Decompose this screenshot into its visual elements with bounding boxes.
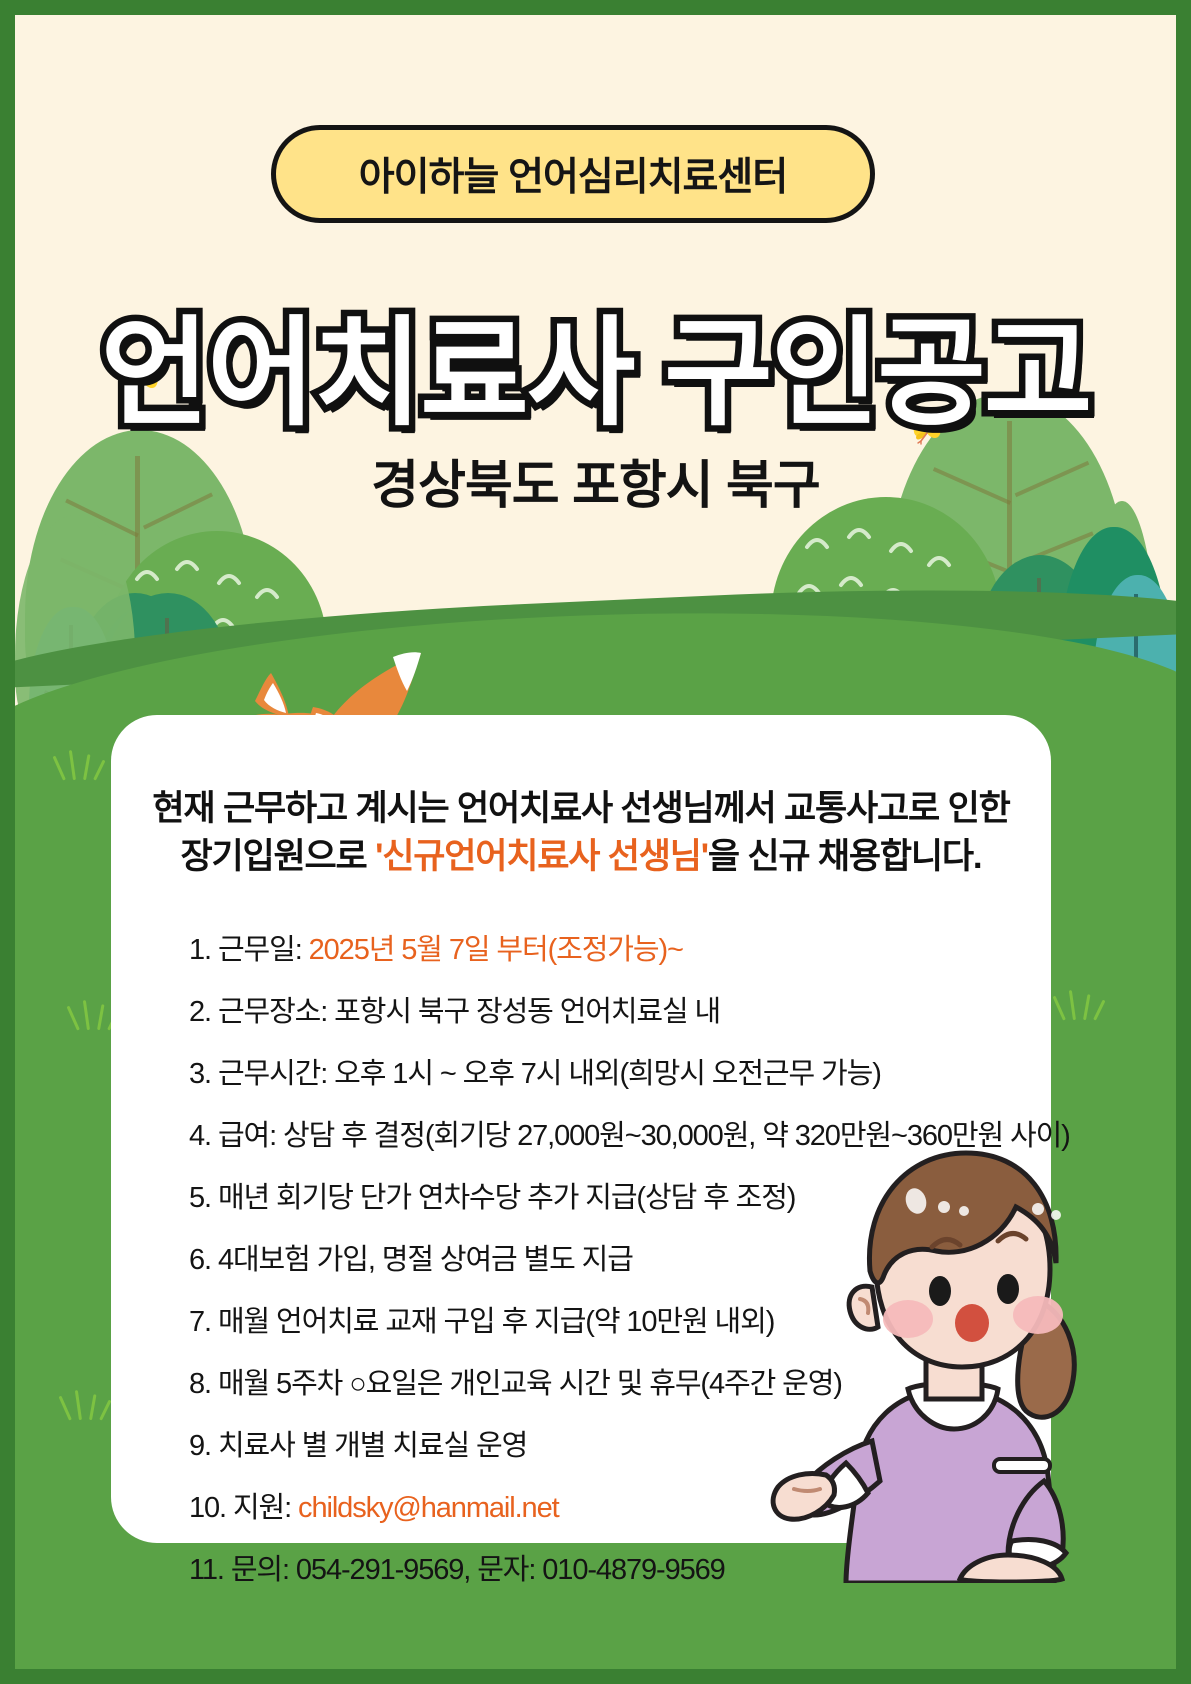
list-item: 1. 근무일: 2025년 5월 7일 부터(조정가능)~ (189, 926, 1069, 968)
page-subtitle: 경상북도 포항시 북구 (15, 443, 1176, 518)
list-item: 3. 근무시간: 오후 1시 ~ 오후 7시 내외(희망시 오전근무 가능) (189, 1050, 1069, 1092)
lead-line-2-before: 장기입원으로 (181, 837, 376, 876)
tree-bush-right (771, 497, 1001, 737)
list-item: 2. 근무장소: 포항시 북구 장성동 언어치료실 내 (189, 988, 1069, 1030)
center-name-label: 아이하늘 언어심리치료센터 (359, 146, 787, 202)
item-1-highlight: 2025년 5월 7일 부터(조정가능)~ (309, 934, 683, 966)
grass-tuft-icon-1 (59, 750, 109, 780)
grass-tuft-icon-5 (65, 1390, 115, 1420)
lead-line-2-after: 을 신규 채용합니다. (708, 837, 982, 876)
page-title: 언어치료사 구인공고 (15, 277, 1176, 448)
lead-paragraph: 현재 근무하고 계시는 언어치료사 선생님께서 교통사고로 인한 장기입원으로 … (111, 785, 1051, 882)
tree-leaf-left-edge (15, 515, 135, 765)
lead-line-1: 현재 근무하고 계시는 언어치료사 선생님께서 교통사고로 인한 (111, 785, 1051, 833)
lead-line-2-highlight: '신규언어치료사 선생님' (375, 837, 708, 876)
application-email[interactable]: childsky@hanmail.net (298, 1492, 559, 1524)
tree-teal-right (1093, 575, 1176, 765)
tree-deep-right (1059, 527, 1169, 757)
item-10-prefix: 10. 지원: (189, 1492, 298, 1524)
hill-shadow (15, 570, 1176, 690)
smiling-girl-illustration (750, 1123, 1110, 1583)
center-name-badge: 아이하늘 언어심리치료센터 (271, 125, 875, 223)
lead-line-2: 장기입원으로 '신규언어치료사 선생님'을 신규 채용합니다. (111, 833, 1051, 881)
item-1-text: 1. 근무일: (189, 934, 309, 966)
tree-leaf-right-edge (1087, 501, 1157, 801)
tree-teal-left (29, 607, 117, 787)
poster-canvas: 아이하늘 언어심리치료센터 언어치료사 구인공고 경상북도 포항시 북구 현재 … (15, 15, 1176, 1669)
